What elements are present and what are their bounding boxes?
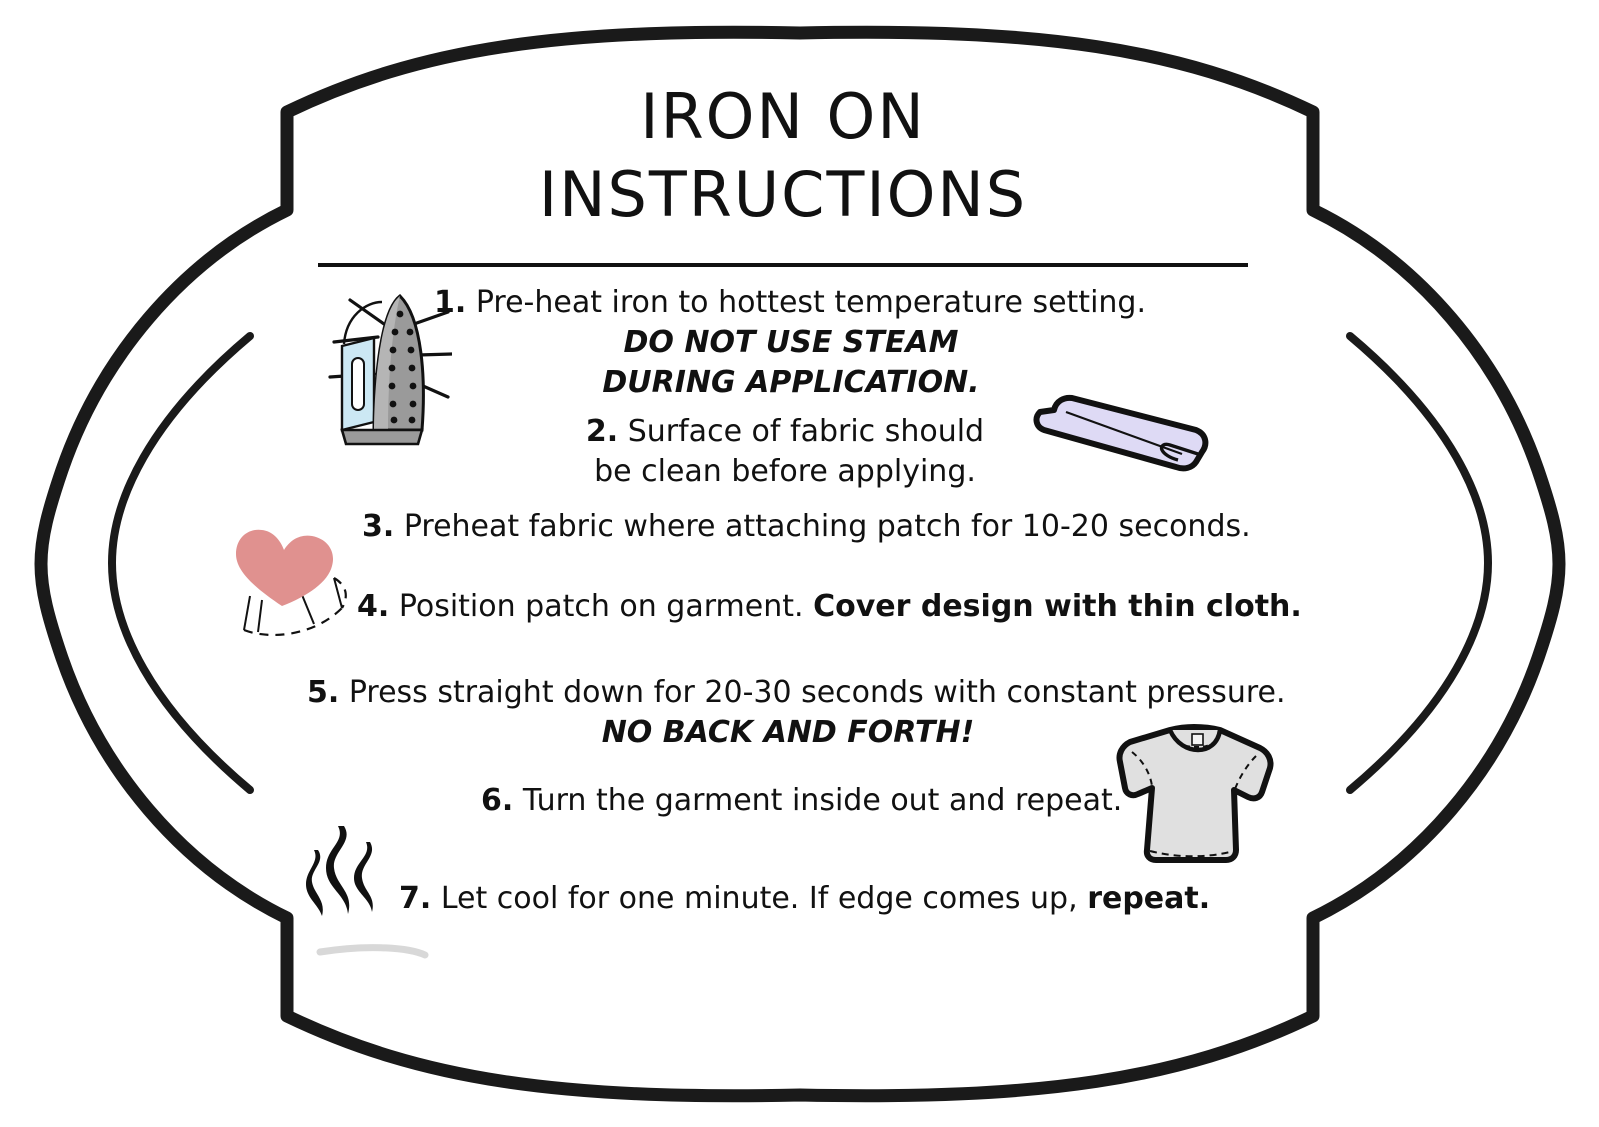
- folded-fabric-icon: [1010, 390, 1210, 485]
- step-7-number: 7.: [399, 881, 431, 916]
- step-5-text: Press straight down for 20-30 seconds wi…: [349, 675, 1286, 710]
- step-5: 5. Press straight down for 20-30 seconds…: [307, 673, 1286, 713]
- step-6-text: Turn the garment inside out and repeat.: [523, 783, 1122, 818]
- title-line-2: INSTRUCTIONS: [318, 156, 1248, 234]
- page-title: IRON ON INSTRUCTIONS: [318, 78, 1248, 234]
- step-7: 7. Let cool for one minute. If edge come…: [399, 879, 1210, 919]
- step-3-text: Preheat fabric where attaching patch for…: [404, 509, 1251, 544]
- step-5-number: 5.: [307, 675, 339, 710]
- step-2-text: Surface of fabric should be clean before…: [594, 414, 984, 489]
- step-7-bold-tail: repeat.: [1087, 881, 1210, 916]
- step-6: 6. Turn the garment inside out and repea…: [481, 781, 1122, 821]
- steam-icon: [302, 818, 387, 923]
- step-1-text: Pre-heat iron to hottest temperature set…: [476, 285, 1146, 320]
- step-1-emphasis-line-1: DO NOT USE STEAM: [434, 323, 1148, 363]
- step-7-text: Let cool for one minute. If edge comes u…: [441, 881, 1078, 916]
- step-6-number: 6.: [481, 783, 513, 818]
- step-4-number: 4.: [357, 589, 389, 624]
- title-line-1: IRON ON: [318, 78, 1248, 156]
- step-1: 1. Pre-heat iron to hottest temperature …: [434, 283, 1146, 323]
- iron-on-instructions-page: IRON ON INSTRUCTIONS 1. Pre-heat iron to…: [0, 0, 1599, 1127]
- step-2-number: 2.: [586, 414, 618, 449]
- tshirt-icon: [1108, 718, 1283, 866]
- step-3: 3. Preheat fabric where attaching patch …: [362, 507, 1251, 547]
- step-4-text: Position patch on garment.: [399, 589, 804, 624]
- iron-icon: [322, 282, 452, 447]
- step-2: 2. Surface of fabric should be clean bef…: [585, 412, 985, 492]
- title-divider: [318, 263, 1248, 267]
- heart-patch-icon: [222, 512, 367, 642]
- step-4: 4. Position patch on garment. Cover desi…: [357, 587, 1302, 627]
- step-4-bold-tail: Cover design with thin cloth.: [813, 589, 1302, 624]
